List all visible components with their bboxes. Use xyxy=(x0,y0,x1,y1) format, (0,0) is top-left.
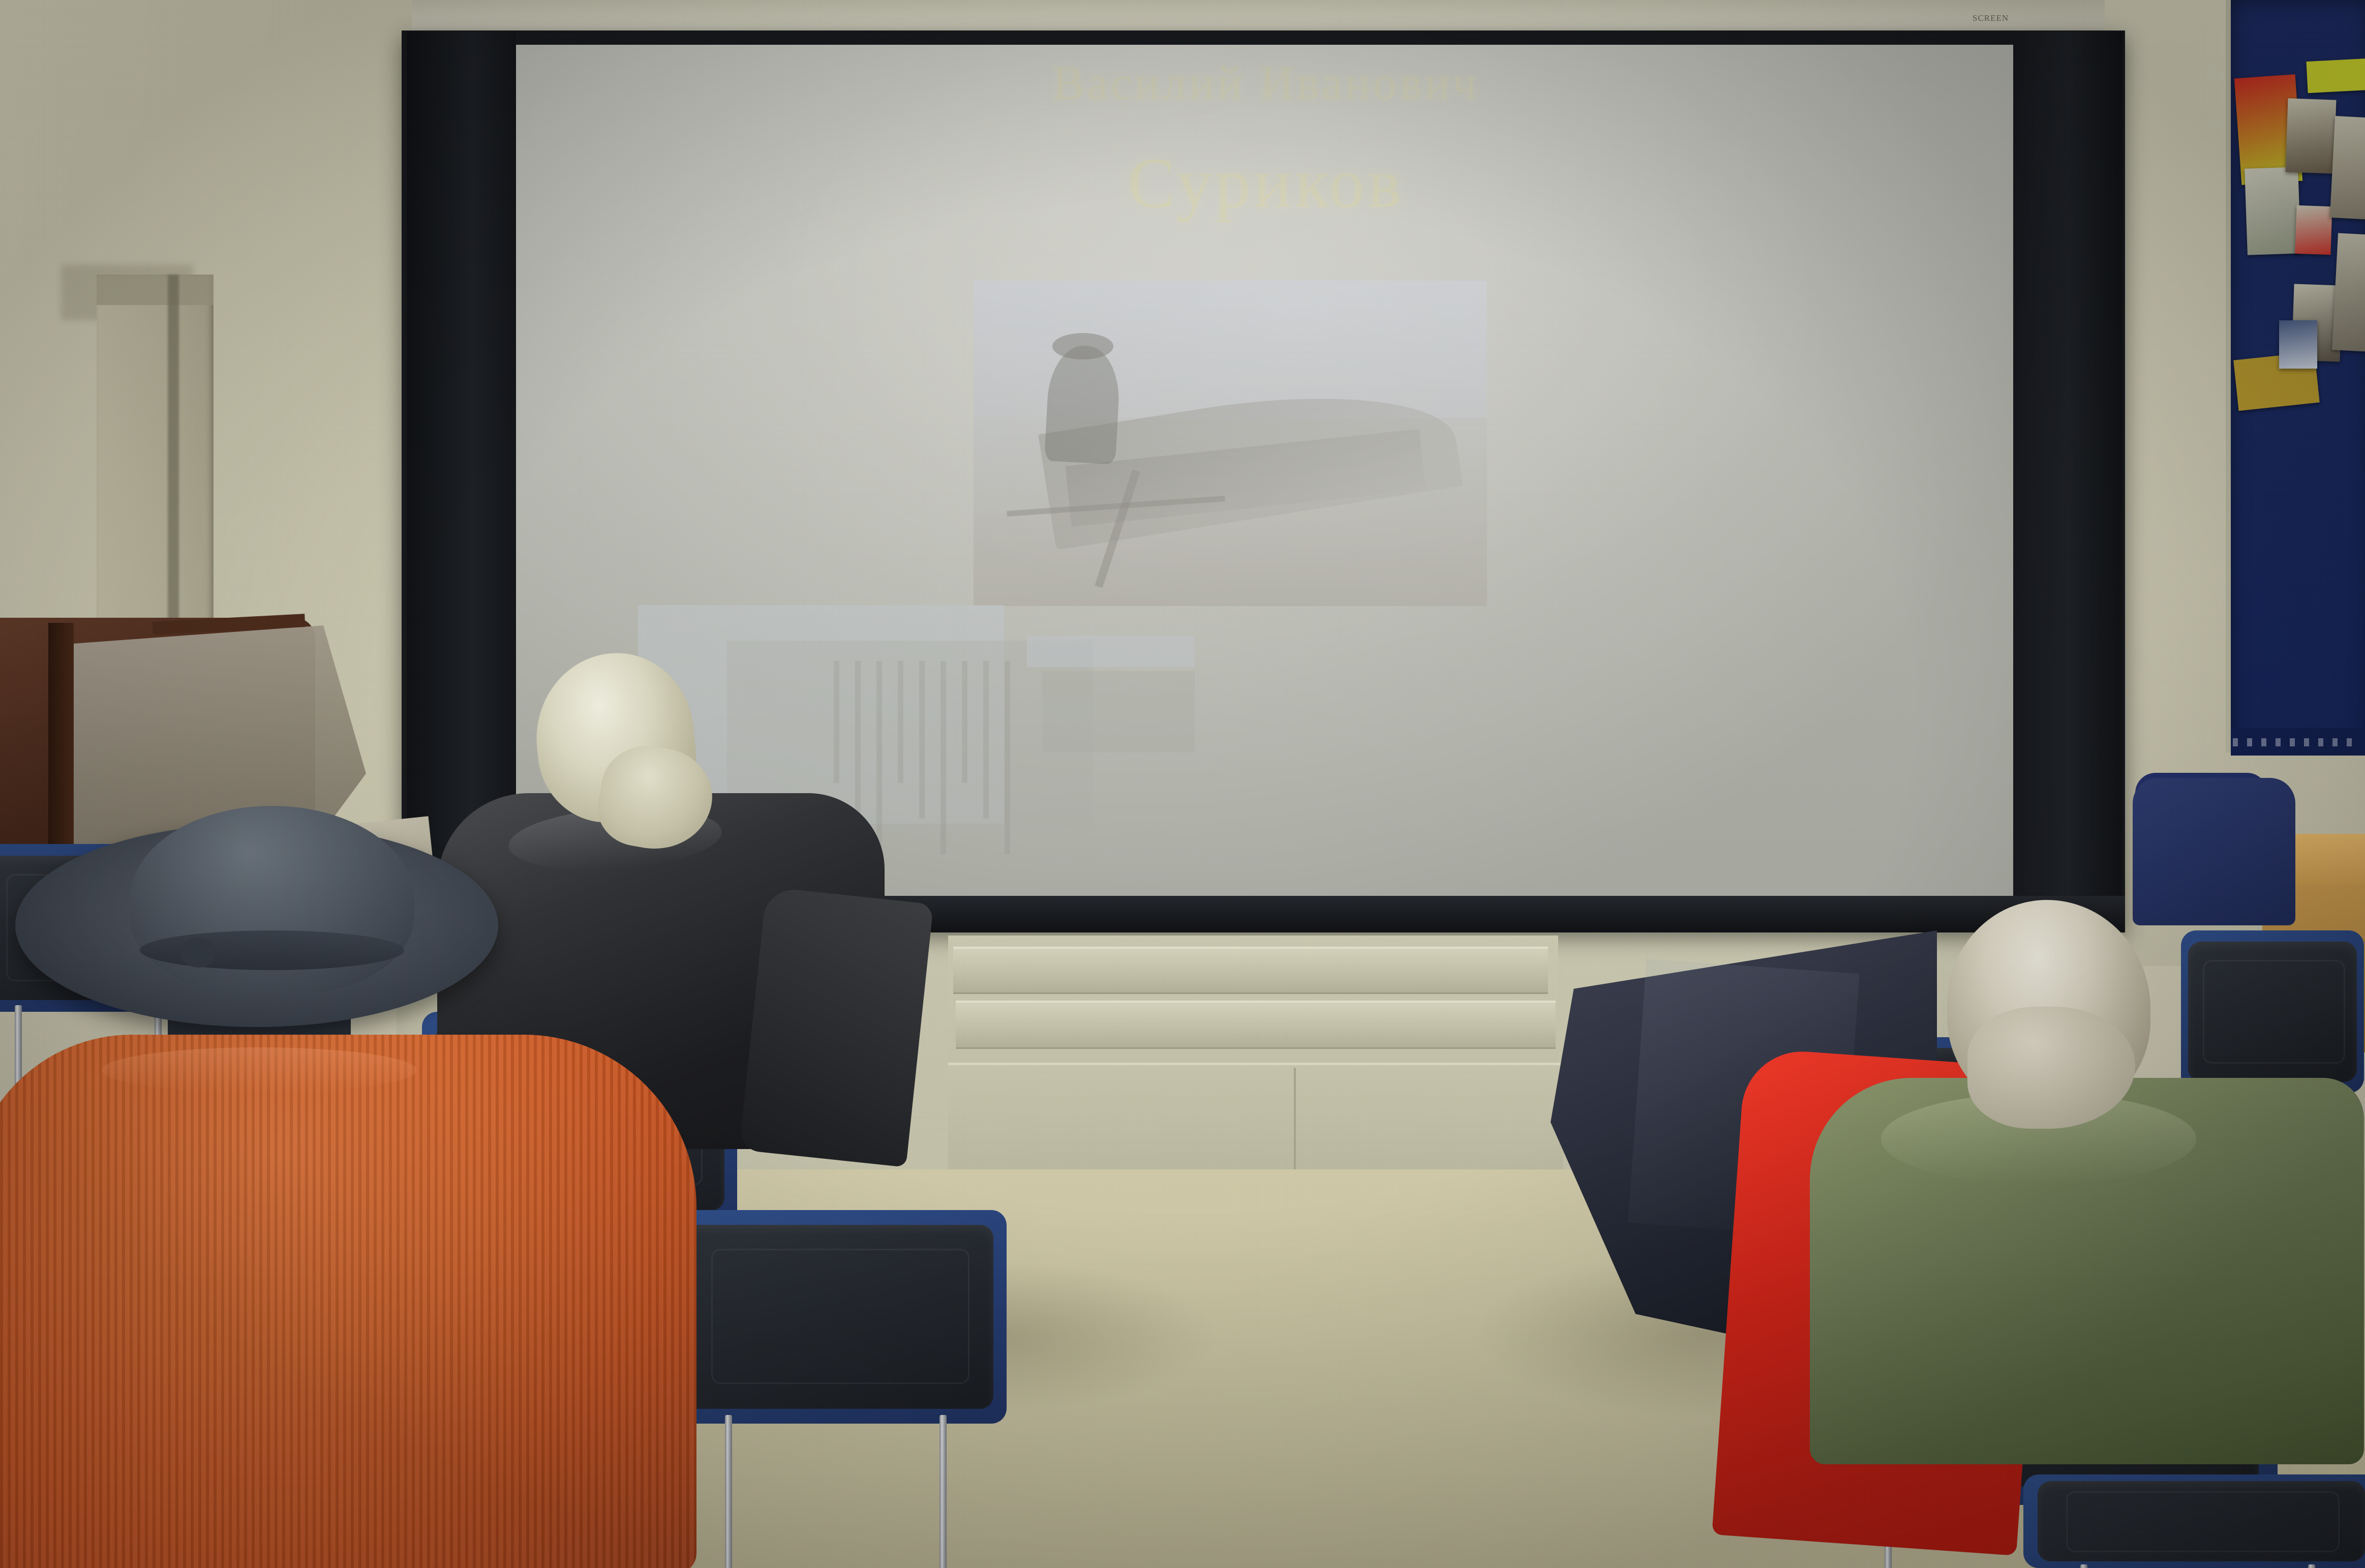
door-header xyxy=(97,275,214,305)
wide-brim-hat-knot xyxy=(180,938,216,968)
classroom-scene: SCREEN Василий Иванович Суриков xyxy=(0,0,2365,1568)
orange-sweater-collar xyxy=(102,1047,417,1093)
radiator-slat-1 xyxy=(953,947,1548,994)
bulletin-board[interactable] xyxy=(2226,0,2365,752)
slide-strip-2 xyxy=(855,661,861,819)
chair-mid-left[interactable] xyxy=(671,1210,1007,1424)
wall-panel-lower xyxy=(948,1063,1563,1172)
slide-strip-4 xyxy=(898,661,903,783)
chair-right-back-row-leg-2 xyxy=(2308,1564,2315,1568)
slide-secondary-image-d xyxy=(1042,671,1195,752)
slide-strip-5 xyxy=(919,661,925,819)
slide-secondary-image-c xyxy=(1027,636,1195,667)
orange-sweater-body xyxy=(0,1035,696,1568)
person-leather-jacket-arm xyxy=(739,887,934,1167)
chair-far-right-upper[interactable] xyxy=(2133,778,2295,925)
screen-border-left xyxy=(407,32,516,929)
chair-right-back-row[interactable] xyxy=(2023,1474,2365,1568)
radiator-slat-2 xyxy=(956,1001,1556,1049)
poster-white-b xyxy=(2330,116,2365,220)
chair-mid-left-leg-2 xyxy=(939,1415,947,1568)
chair-mid-left-leg-1 xyxy=(725,1415,732,1568)
bulletin-board-clips xyxy=(2233,738,2360,746)
poster-photo-red xyxy=(2295,205,2332,255)
door-edge xyxy=(168,275,179,630)
slide-photo-water xyxy=(974,514,1487,606)
doorway[interactable] xyxy=(97,275,214,630)
poster-white-c xyxy=(2332,233,2365,351)
chair-mid-left-panel-line xyxy=(711,1249,969,1384)
wall-panel-seam xyxy=(1294,1068,1296,1169)
poster-white-a xyxy=(2245,167,2301,255)
chair-right-back-row-panel-line xyxy=(2066,1491,2340,1552)
slide-title-line-1: Василий Иванович xyxy=(513,56,2018,111)
slide-strip-6 xyxy=(941,661,946,854)
poster-photo-a xyxy=(2285,98,2336,173)
screen-border-right xyxy=(2013,32,2123,896)
wide-brim-hat-band xyxy=(140,930,404,970)
slide-photo-figure-hat xyxy=(1052,333,1113,359)
slide-title-line-2: Суриков xyxy=(513,142,2018,224)
chair-right-back-row-leg-1 xyxy=(2080,1564,2087,1568)
chair-far-right-upper[interactable] xyxy=(2181,930,2364,1093)
piano-edge xyxy=(48,623,74,862)
slide-strip-1 xyxy=(834,661,839,783)
slide-strip-7 xyxy=(962,661,967,783)
screen-brand-label: SCREEN xyxy=(1973,13,2003,24)
slide-strip-8 xyxy=(983,661,989,819)
poster-yellow-top xyxy=(2306,58,2365,93)
chair-far-right-upper-panel-line xyxy=(2203,960,2345,1064)
poster-blue-small xyxy=(2279,320,2317,369)
slide-strip-3 xyxy=(876,661,882,854)
slide-strip-9 xyxy=(1005,661,1010,854)
